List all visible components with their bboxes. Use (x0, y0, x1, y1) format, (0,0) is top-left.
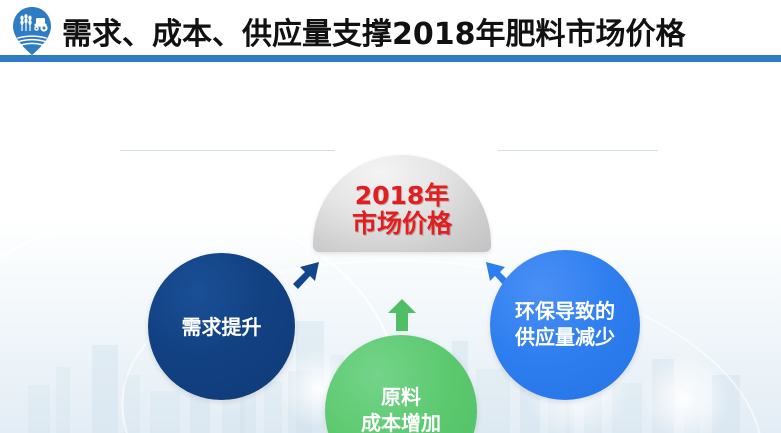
dome-line-topic: 市场价格 (352, 210, 452, 238)
arrow-up-icon (387, 297, 417, 333)
node-supply[interactable]: 环保导致的 供应量减少 (490, 250, 640, 400)
decor-horizon-line (498, 150, 658, 151)
node-cost-line-2: 成本增加 (361, 411, 441, 433)
node-supply-label: 环保导致的 供应量减少 (515, 299, 615, 350)
header-divider (0, 55, 781, 62)
slide-canvas: 2018年 市场价格 需求提升 (0, 62, 781, 433)
agriculture-pin-icon (10, 5, 54, 60)
page-title: 需求、成本、供应量支撑2018年肥料市场价格 (62, 9, 686, 53)
arrow-up-right-icon (291, 256, 327, 294)
node-supply-line-2: 供应量减少 (515, 325, 615, 351)
node-demand-label: 需求提升 (182, 315, 262, 339)
center-dome-shape: 2018年 市场价格 (313, 155, 491, 252)
center-dome-label: 2018年 市场价格 (313, 155, 491, 252)
slide-root: 需求、成本、供应量支撑2018年肥料市场价格 (0, 0, 781, 433)
node-demand-line-1: 需求提升 (182, 315, 262, 339)
decor-horizon-line (120, 150, 335, 151)
node-demand[interactable]: 需求提升 (148, 253, 295, 400)
node-supply-line-1: 环保导致的 (515, 299, 615, 325)
dome-line-year: 2018年 (355, 182, 450, 210)
node-cost-label: 原料 成本增加 (361, 385, 441, 433)
slide-header: 需求、成本、供应量支撑2018年肥料市场价格 (0, 0, 781, 62)
node-cost-line-1: 原料 (361, 385, 441, 411)
